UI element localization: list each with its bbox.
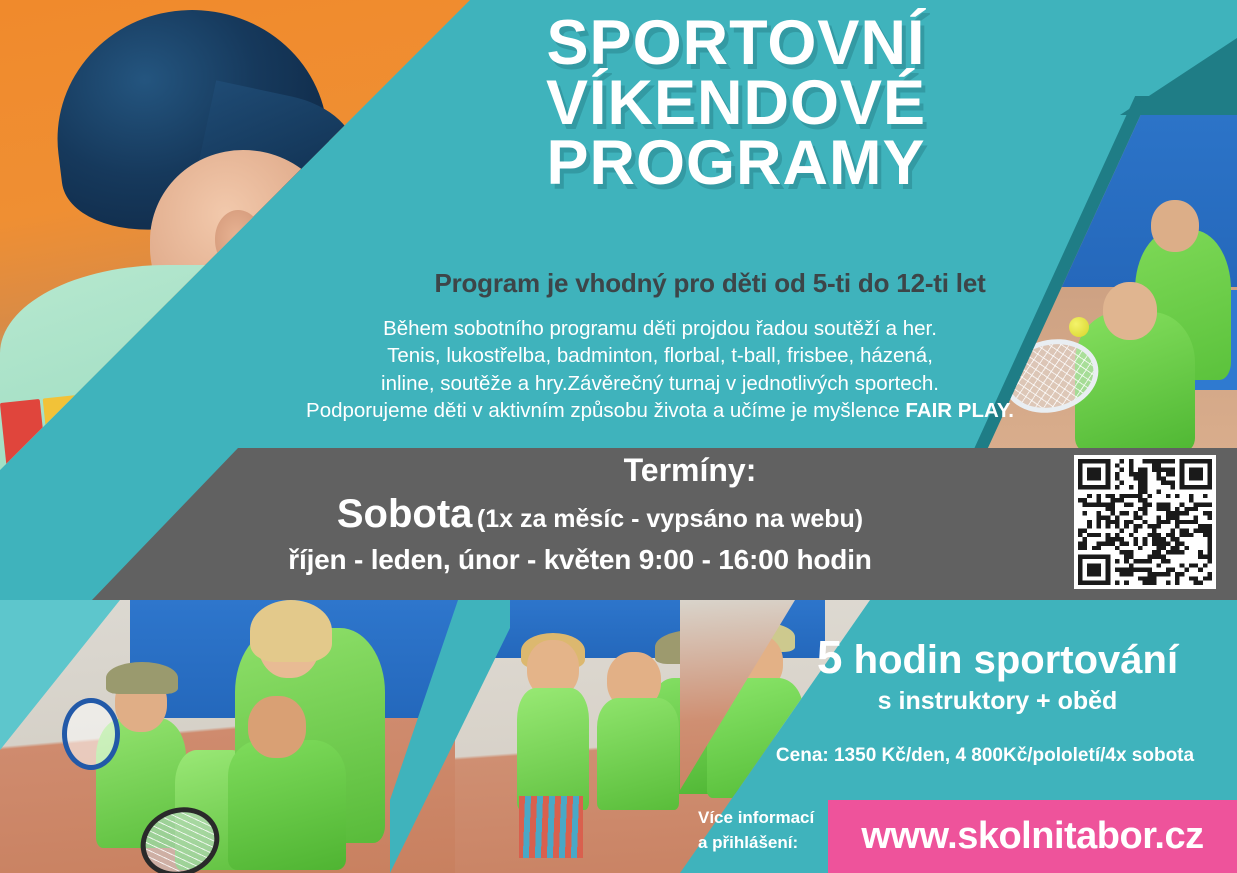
offer-block: 5 hodin sportování s instruktory + oběd [770, 633, 1225, 716]
logo-panel-yellow [43, 394, 92, 470]
logo-panel-blue [128, 385, 177, 470]
page-title: SPORTOVNÍ VÍKENDOVÉ PROGRAMY [396, 14, 1076, 194]
more-info-label: Více informací a přihlášení: [698, 806, 828, 855]
boy-head-shape [150, 150, 340, 335]
dates-heading: Termíny: [310, 452, 1070, 489]
dates-day-note: (1x za měsíc - vypsáno na webu) [477, 505, 863, 533]
headline-line-2: VÍKENDOVÉ [396, 74, 1076, 134]
website-banner[interactable]: www.skolnitabor.cz [828, 800, 1237, 873]
boy-ear-shape [215, 210, 263, 270]
dates-months-hours: říjen - leden, únor - květen 9:00 - 16:0… [180, 544, 980, 576]
description-line-4: Podporujeme děti v aktivním způsobu živo… [280, 397, 1040, 424]
more-info-line-2: a přihlášení: [698, 833, 798, 852]
description-line-4-text: Podporujeme děti v aktivním způsobu živo… [306, 399, 905, 422]
qr-code-canvas [1078, 459, 1212, 585]
description-line-3: inline, soutěže a hry.Závěrečný turnaj v… [280, 370, 1040, 397]
logo-panel-green [85, 390, 134, 470]
kid-hat-shape [106, 662, 178, 694]
age-range-subtitle: Program je vhodný pro děti od 5-ti do 12… [330, 268, 1090, 299]
more-info-line-1: Více informací [698, 808, 814, 827]
kid-1-shorts-shape [519, 796, 583, 858]
racket-blue-shape [62, 698, 120, 770]
offer-hours-text: hodin sportování [843, 638, 1179, 682]
poster-root: ŠKOLNÍ TÁBOR www.skolnitabor.cz SPORTOVN… [0, 0, 1237, 873]
kid-front-shape [228, 740, 346, 870]
dates-day: Sobota [337, 492, 473, 536]
description-line-1: Během sobotního programu děti projdou řa… [280, 315, 1040, 342]
offer-hours-line: 5 hodin sportování [770, 633, 1225, 681]
kid-front-head-shape [248, 696, 306, 758]
headline-line-3: PROGRAMY [396, 134, 1076, 194]
logo-panel-red [0, 399, 49, 470]
qr-code[interactable] [1074, 455, 1216, 589]
fair-play-emphasis: FAIR PLAY. [905, 399, 1014, 422]
website-url: www.skolnitabor.cz [861, 815, 1203, 858]
offer-hours-number: 5 [817, 631, 843, 683]
description-line-2: Tenis, lukostřelba, badminton, florbal, … [280, 342, 1040, 369]
kid-1-shape [517, 688, 589, 810]
girl-front-head-shape [1103, 282, 1157, 340]
kid-2-shape [597, 698, 679, 810]
top-right-corner-wedge [1087, 0, 1237, 115]
girl-back-head-shape [1151, 200, 1199, 252]
dates-day-line: Sobota (1x za měsíc - vypsáno na webu) [200, 492, 1000, 537]
program-description: Během sobotního programu děti projdou řa… [280, 315, 1040, 424]
tennis-ball-shape [1069, 317, 1089, 337]
headline-line-1: SPORTOVNÍ [396, 14, 1076, 74]
price-info: Cena: 1350 Kč/den, 4 800Kč/pololetí/4x s… [740, 745, 1230, 767]
coach-hair-shape [250, 600, 332, 662]
offer-includes: s instruktory + oběd [770, 687, 1225, 716]
